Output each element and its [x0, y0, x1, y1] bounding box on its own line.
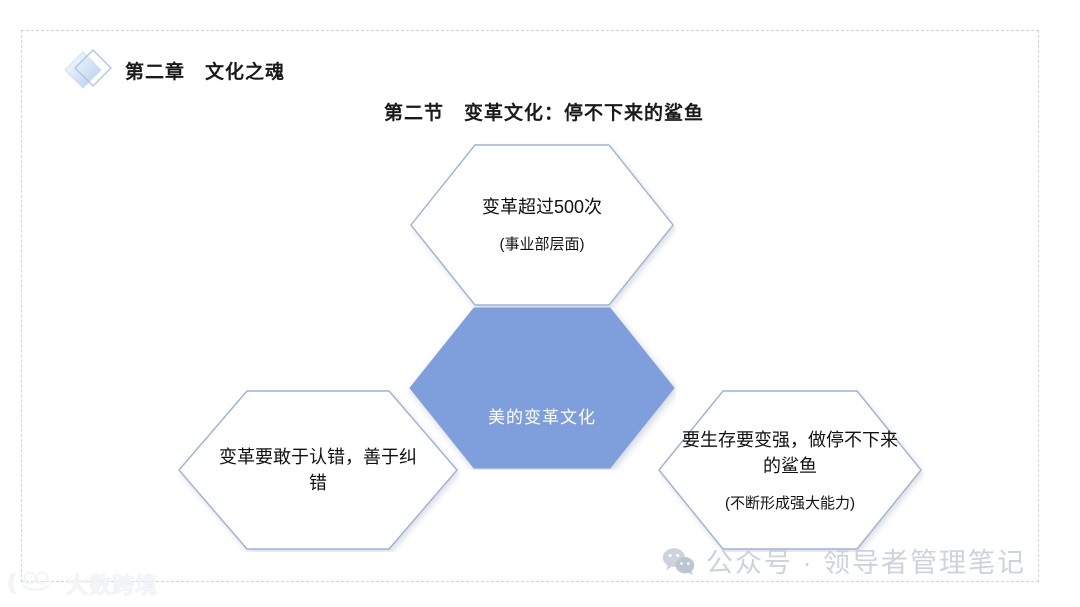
hexagon-center-label: 美的变革文化 [488, 403, 596, 428]
hexagon-bottom-right-line1: 要生存要变强，做停不下来的鲨鱼 [680, 427, 900, 479]
watermark-bottom-left-text: 大数跨境 [66, 568, 158, 600]
dashu-kuajing-logo [6, 569, 62, 599]
wechat-icon [662, 546, 696, 576]
slide-header: 第二章 文化之魂 [45, 46, 285, 94]
hexagon-bottom-left[interactable]: 变革要敢于认错，善于纠错 [176, 388, 460, 552]
hexagon-top[interactable]: 变革超过500次 (事业部层面) [408, 142, 676, 308]
hexagon-bottom-right[interactable]: 要生存要变强，做停不下来的鲨鱼 (不断形成强大能力) [656, 388, 924, 552]
hexagon-bottom-left-text: 变革要敢于认错，善于纠错 [210, 444, 426, 496]
diamond-logo [45, 46, 117, 94]
hexagon-top-line2: (事业部层面) [435, 234, 649, 256]
slide-canvas: 第二章 文化之魂 第二节 变革文化：停不下来的鲨鱼 变革超过500次 (事业部层… [0, 0, 1080, 607]
chapter-title: 第二章 文化之魂 [125, 57, 285, 84]
hexagon-top-line1: 变革超过500次 [435, 194, 649, 220]
hexagon-top-text: 变革超过500次 (事业部层面) [435, 194, 649, 256]
hexagon-bottom-right-text: 要生存要变强，做停不下来的鲨鱼 (不断形成强大能力) [680, 427, 900, 515]
watermark-bottom-left: 大数跨境 [6, 568, 158, 600]
section-subtitle: 第二节 变革文化：停不下来的鲨鱼 [0, 98, 1080, 125]
watermark-bottom-right: 公众号 · 领导者管理笔记 [662, 541, 1026, 580]
hexagon-bottom-left-line1: 变革要敢于认错，善于纠错 [210, 444, 426, 496]
watermark-bottom-right-text: 公众号 · 领导者管理笔记 [706, 541, 1026, 580]
hexagon-bottom-right-line2: (不断形成强大能力) [680, 493, 900, 515]
